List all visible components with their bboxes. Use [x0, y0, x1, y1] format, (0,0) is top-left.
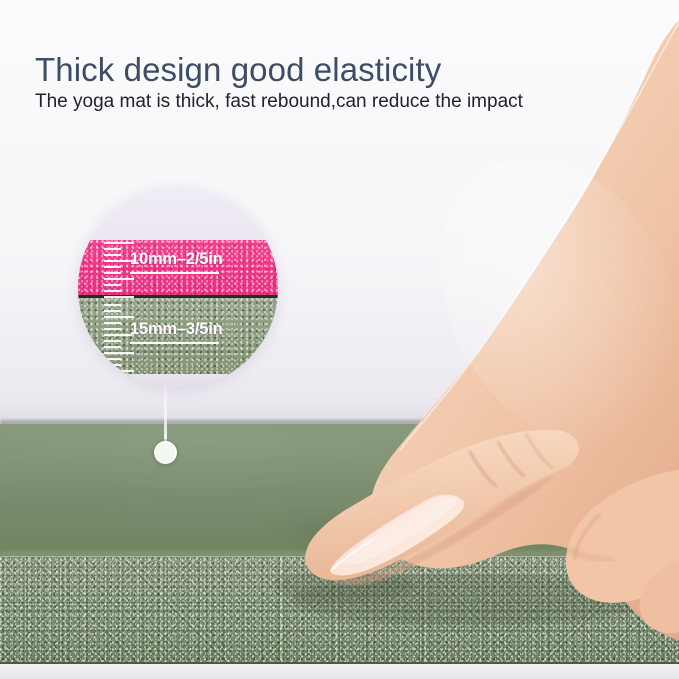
- magnifier-background-area: [78, 188, 278, 240]
- callout-marker-dot: [154, 441, 177, 464]
- pink-label-underline: [130, 272, 219, 274]
- green-layer-thickness-label: 15mm–3/5in: [130, 320, 222, 344]
- green-label-underline: [130, 342, 219, 344]
- page-subtitle: The yoga mat is thick, fast rebound,can …: [35, 89, 523, 115]
- green-layer-thickness-text: 15mm–3/5in: [130, 320, 222, 338]
- floor-strip: [0, 664, 679, 679]
- page-title: Thick design good elasticity: [35, 50, 441, 90]
- pink-layer-thickness-label: 10mm–2/5in: [130, 250, 222, 274]
- product-feature-image: 10mm–2/5in 15mm–3/5in Thick design good …: [0, 0, 679, 679]
- callout-leader-line: [164, 386, 167, 444]
- magnifier-floor-area: [78, 374, 278, 388]
- yoga-mat-foam-edge: [0, 557, 679, 665]
- pink-layer-thickness-text: 10mm–2/5in: [130, 250, 222, 268]
- thickness-detail-magnifier[interactable]: 10mm–2/5in 15mm–3/5in: [78, 188, 278, 388]
